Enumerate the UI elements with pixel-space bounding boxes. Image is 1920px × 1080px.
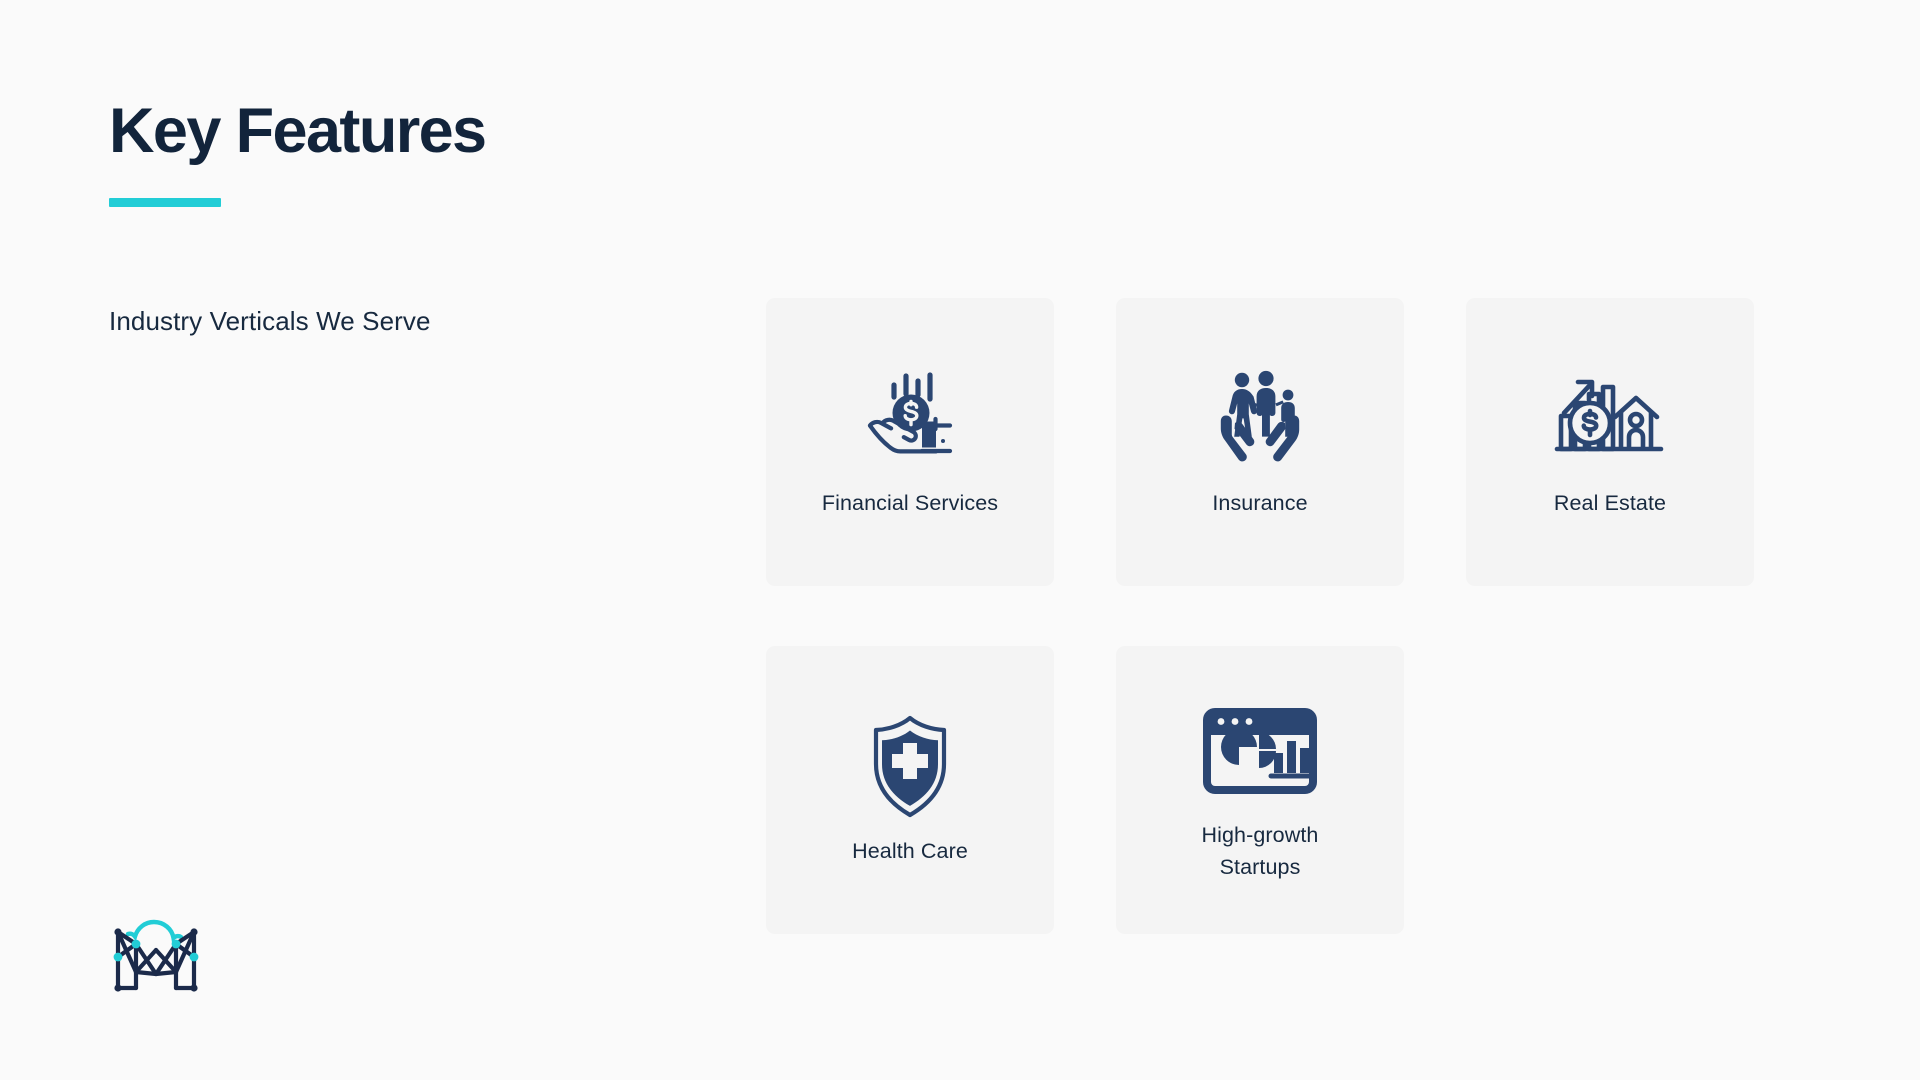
section-subtitle: Industry Verticals We Serve bbox=[109, 306, 431, 337]
page-title: Key Features bbox=[109, 98, 486, 164]
network-cloud-logo[interactable] bbox=[110, 912, 202, 996]
industry-vertical-card-grid: Financial Services bbox=[766, 298, 1790, 934]
card-label: Real Estate bbox=[1554, 488, 1666, 520]
card-label: Financial Services bbox=[822, 488, 998, 520]
property-growth-chart-icon bbox=[1552, 360, 1668, 478]
hand-holding-coin-icon bbox=[854, 360, 966, 478]
heading-block: Key Features bbox=[109, 98, 486, 207]
card-high-growth-startups[interactable]: High-growth Startups bbox=[1116, 646, 1404, 934]
card-financial-services[interactable]: Financial Services bbox=[766, 298, 1054, 586]
card-insurance[interactable]: Insurance bbox=[1116, 298, 1404, 586]
card-real-estate[interactable]: Real Estate bbox=[1466, 298, 1754, 586]
card-label: Health Care bbox=[852, 836, 968, 868]
accent-underline-bar bbox=[109, 198, 221, 207]
slide-root: Key Features Industry Verticals We Serve bbox=[0, 0, 1920, 1080]
family-in-hands-icon bbox=[1204, 360, 1316, 478]
card-label: High-growth Startups bbox=[1160, 820, 1360, 884]
dashboard-analytics-icon bbox=[1201, 692, 1319, 810]
card-label: Insurance bbox=[1212, 488, 1307, 520]
card-health-care[interactable]: Health Care bbox=[766, 646, 1054, 934]
shield-medical-cross-icon bbox=[856, 708, 964, 826]
